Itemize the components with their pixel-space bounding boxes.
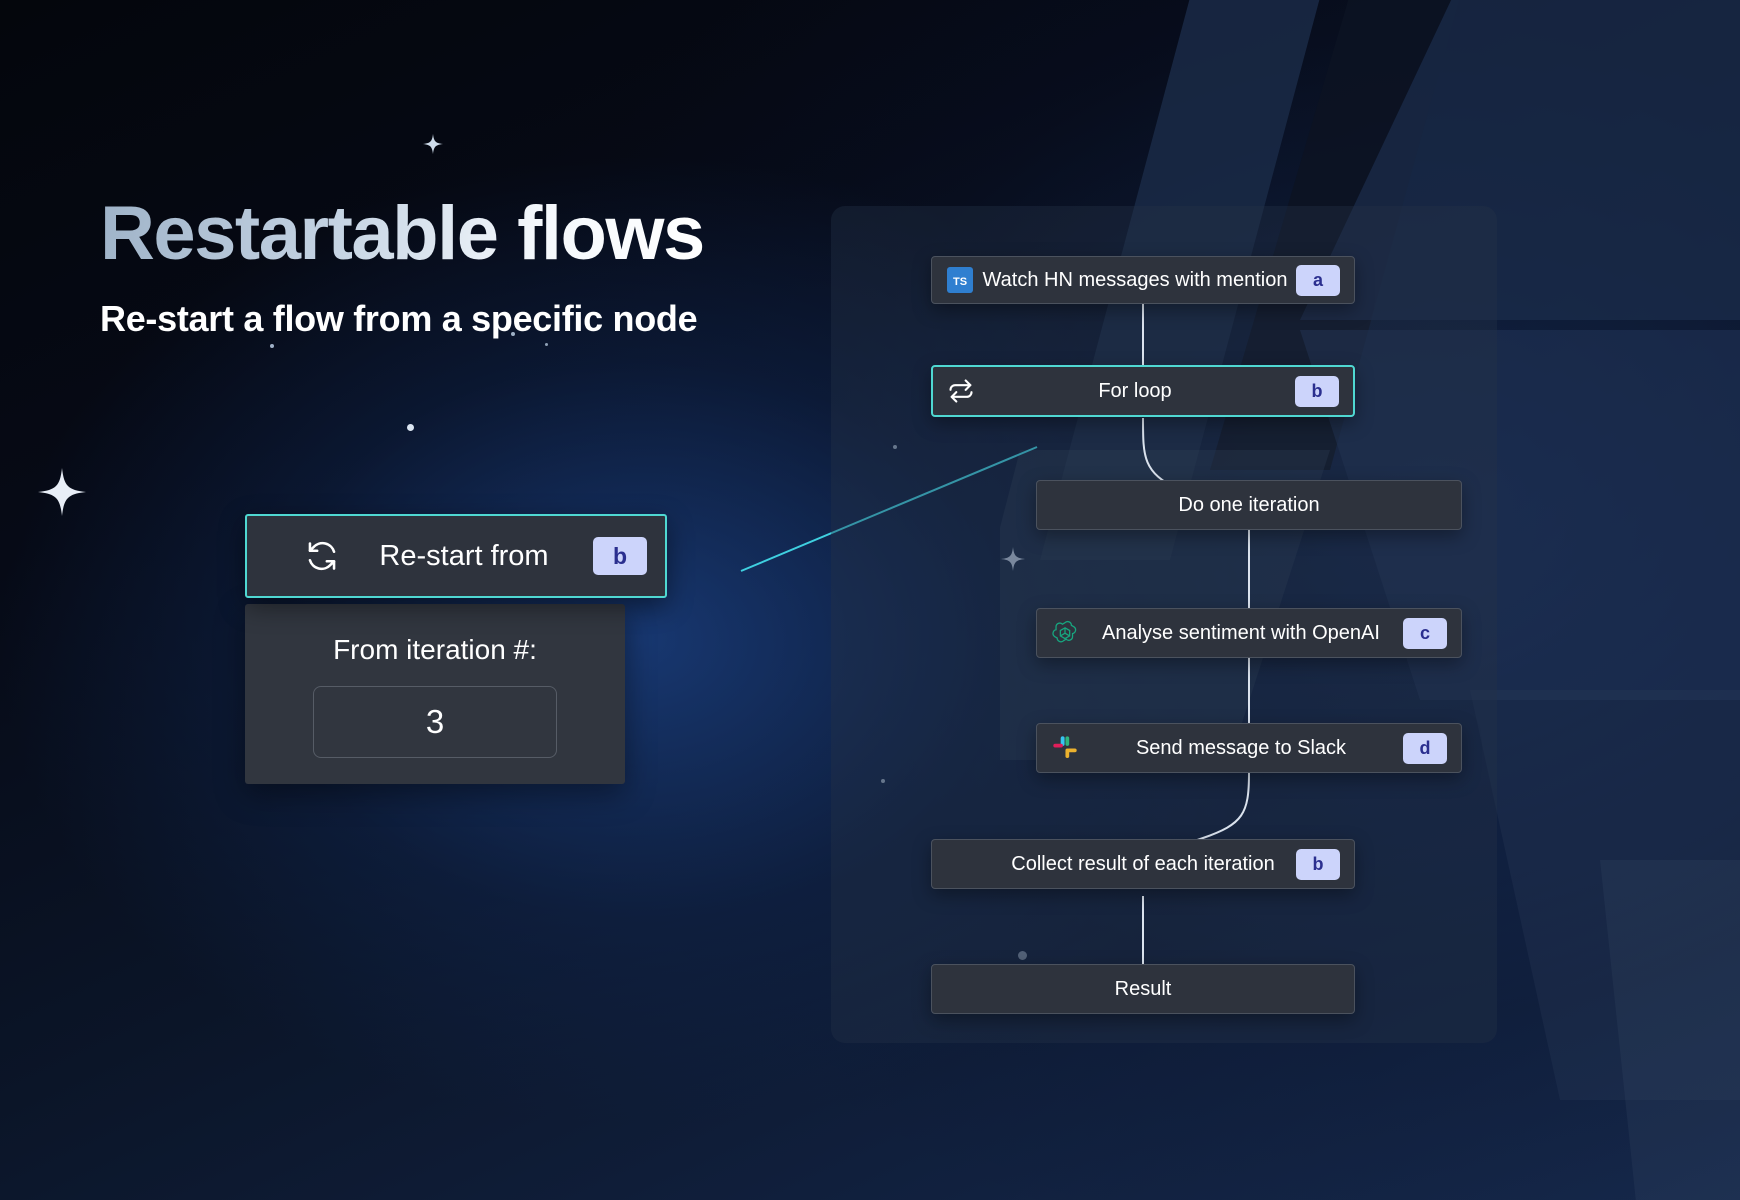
flow-node-badge: a [1296, 265, 1340, 296]
sparkle-star-icon [36, 466, 88, 518]
flow-node-badge: b [1296, 849, 1340, 880]
restart-from-label: Re-start from [335, 540, 593, 573]
flow-node-badge: c [1403, 618, 1447, 649]
iteration-number-input[interactable] [313, 686, 557, 758]
page-root: Restartable flows Re-start a flow from a… [0, 0, 1740, 1200]
flow-node-label: Watch HN messages with mention [974, 269, 1296, 292]
hero-section: Restartable flows Re-start a flow from a… [100, 196, 704, 340]
flow-node-label: Analyse sentiment with OpenAI [1079, 622, 1403, 645]
openai-icon [1051, 619, 1079, 647]
flow-node-slack[interactable]: Send message to Slack d [1036, 723, 1462, 773]
flow-node-watch-hn[interactable]: TS Watch HN messages with mention a [931, 256, 1355, 304]
restart-refresh-icon [305, 539, 339, 573]
flow-node-label: For loop [975, 380, 1295, 403]
loop-icon [947, 377, 975, 405]
sparkle-star-icon [422, 133, 444, 155]
flow-nodes-layer: TS Watch HN messages with mention a For … [831, 206, 1740, 1066]
flow-node-for-loop[interactable]: For loop b [931, 365, 1355, 417]
flow-node-openai[interactable]: Analyse sentiment with OpenAI c [1036, 608, 1462, 658]
flow-node-label: Collect result of each iteration [990, 853, 1296, 876]
typescript-icon: TS [946, 266, 974, 294]
restart-card: Re-start from b From iteration #: [245, 514, 667, 784]
restart-from-node[interactable]: Re-start from b [245, 514, 667, 598]
svg-text:TS: TS [953, 276, 967, 288]
flow-node-badge: b [1295, 376, 1339, 407]
slack-icon [1051, 734, 1079, 762]
restart-badge: b [593, 537, 647, 575]
flow-node-label: Do one iteration [1095, 494, 1403, 517]
iteration-panel: From iteration #: [245, 604, 625, 784]
flow-node-label: Result [990, 978, 1296, 1001]
page-title: Restartable flows [100, 196, 704, 272]
decorative-dot [407, 424, 414, 431]
flow-node-label: Send message to Slack [1079, 737, 1403, 760]
iteration-field-label: From iteration #: [245, 634, 625, 666]
decorative-dot [270, 344, 274, 348]
flow-node-collect-result[interactable]: Collect result of each iteration b [931, 839, 1355, 889]
page-subtitle: Re-start a flow from a specific node [100, 298, 704, 340]
flow-node-result[interactable]: Result [931, 964, 1355, 1014]
flow-node-badge: d [1403, 733, 1447, 764]
decorative-dot [545, 343, 548, 346]
flow-node-do-one-iteration[interactable]: Do one iteration [1036, 480, 1462, 530]
